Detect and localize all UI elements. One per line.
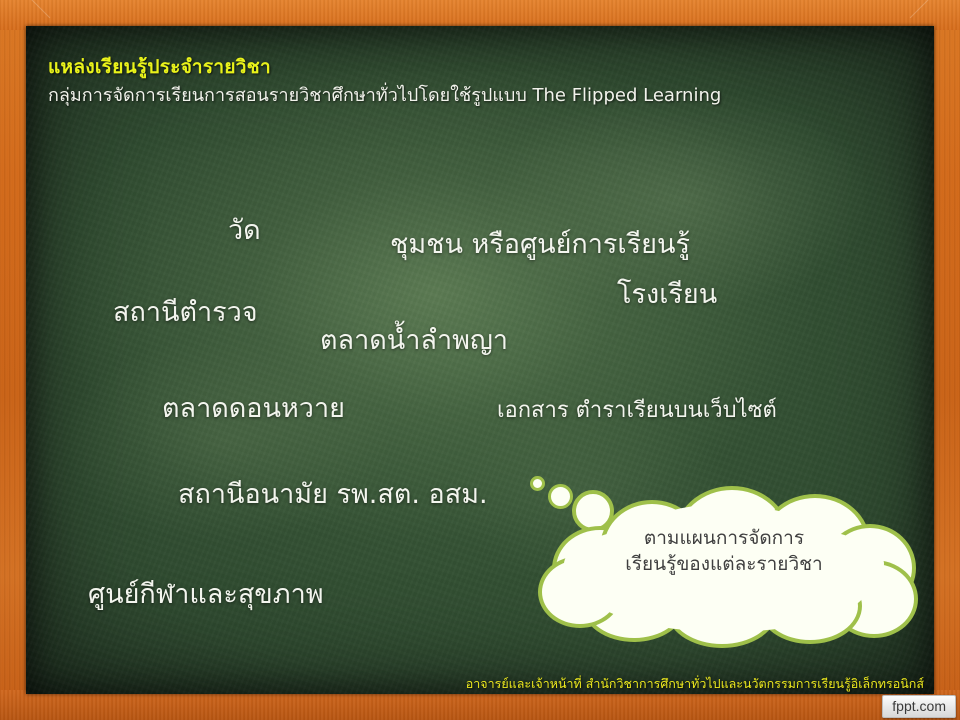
chalk-label: เอกสาร ตำราเรียนบนเว็บไซต์: [497, 392, 777, 427]
frame-bottom-rail: [0, 690, 960, 720]
chalk-label: สถานีตำรวจ: [113, 290, 258, 333]
slide-subtitle: กลุ่มการจัดการเรียนการสอนรายวิชาศึกษาทั่…: [48, 80, 721, 109]
cloud-text-line2: เรียนรู้ของแต่ละรายวิชา: [564, 552, 884, 578]
thought-cloud: ตามแผนการจัดการ เรียนรู้ของแต่ละรายวิชา: [524, 468, 924, 646]
slide-title: แหล่งเรียนรู้ประจำรายวิชา: [48, 52, 271, 82]
chalk-label: วัด: [228, 208, 261, 251]
slide-canvas: แหล่งเรียนรู้ประจำรายวิชา กลุ่มการจัดการ…: [0, 0, 960, 720]
chalk-label: ตลาดน้ำลำพญา: [320, 318, 508, 361]
chalk-label: ศูนย์กีฬาและสุขภาพ: [88, 572, 324, 615]
thought-bubble-medium: [548, 484, 573, 509]
cloud-text-line1: ตามแผนการจัดการ: [564, 526, 884, 552]
chalk-label: ตลาดดอนหวาย: [162, 386, 345, 429]
footer-credit: อาจารย์และเจ้าหน้าที่ สำนักวิชาการศึกษาท…: [466, 674, 924, 694]
chalk-label: สถานีอนามัย รพ.สต. อสม.: [178, 472, 488, 515]
cloud-text: ตามแผนการจัดการ เรียนรู้ของแต่ละรายวิชา: [564, 526, 884, 577]
chalk-label: ชุมชน หรือศูนย์การเรียนรู้: [390, 222, 690, 265]
chalk-label: โรงเรียน: [617, 272, 717, 315]
fppt-watermark: fppt.com: [882, 695, 956, 718]
thought-bubble-small: [530, 476, 545, 491]
